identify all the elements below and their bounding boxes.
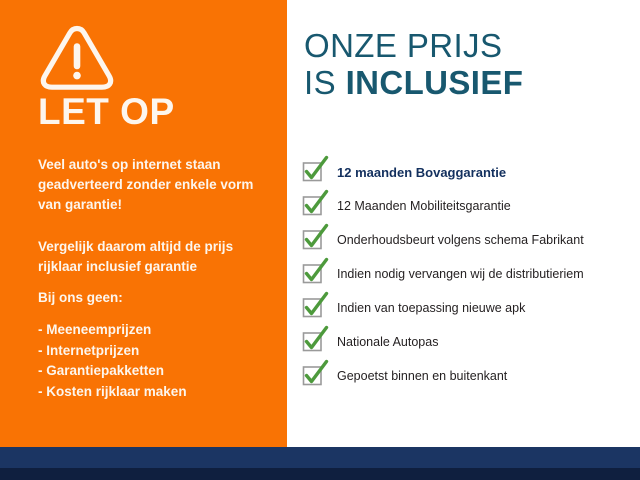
headline-light-part: IS [304,64,346,101]
list-item: - Internetprijzen [38,341,278,362]
page-title: LET OP [38,93,175,130]
checklist-label: Nationale Autopas [337,335,438,349]
checklist-label: Indien nodig vervangen wij de distributi… [337,267,584,281]
headline: ONZE PRIJS IS INCLUSIEF [304,27,523,101]
checkbox-checked-icon [303,264,323,284]
exclusions-list: - Meeneemprijzen - Internetprijzen - Gar… [38,320,278,402]
list-item: Indien van toepassing nieuwe apk [303,291,639,325]
list-item: Gepoetst binnen en buitenkant [303,359,639,393]
checkbox-checked-icon [303,162,323,182]
warning-triangle-icon [40,24,114,90]
list-item: 12 maanden Bovaggarantie [303,155,639,189]
inclusive-panel: ONZE PRIJS IS INCLUSIEF 12 maanden Bovag… [287,0,640,447]
headline-line-2: IS INCLUSIEF [304,64,523,101]
footer-bar [0,447,640,468]
promo-banner: LET OP Veel auto's op internet staan gea… [0,0,640,480]
checklist-label: 12 maanden Bovaggarantie [337,165,506,180]
list-item: Onderhoudsbeurt volgens schema Fabrikant [303,223,639,257]
warning-paragraph-1: Veel auto's op internet staan geadvertee… [38,155,273,215]
warning-panel: LET OP Veel auto's op internet staan gea… [0,0,287,447]
list-item: - Kosten rijklaar maken [38,382,278,403]
checklist-label: Indien van toepassing nieuwe apk [337,301,525,315]
warning-paragraph-2: Vergelijk daarom altijd de prijs rijklaa… [38,237,273,277]
checkbox-checked-icon [303,332,323,352]
list-item: Indien nodig vervangen wij de distributi… [303,257,639,291]
headline-bold-part: INCLUSIEF [346,64,524,101]
checkbox-checked-icon [303,230,323,250]
list-item: - Meeneemprijzen [38,320,278,341]
checkbox-checked-icon [303,366,323,386]
list-item: Nationale Autopas [303,325,639,359]
checklist-label: Gepoetst binnen en buitenkant [337,369,507,383]
inclusions-checklist: 12 maanden Bovaggarantie 12 Maanden Mobi… [303,155,639,393]
footer-bar-dark [0,468,640,480]
list-item: 12 Maanden Mobiliteitsgarantie [303,189,639,223]
checkbox-checked-icon [303,196,323,216]
checkbox-checked-icon [303,298,323,318]
checklist-label: 12 Maanden Mobiliteitsgarantie [337,199,511,213]
list-item: - Garantiepakketten [38,361,278,382]
warning-paragraph-3: Bij ons geen: [38,288,273,308]
headline-line-1: ONZE PRIJS [304,27,523,64]
checklist-label: Onderhoudsbeurt volgens schema Fabrikant [337,233,584,247]
